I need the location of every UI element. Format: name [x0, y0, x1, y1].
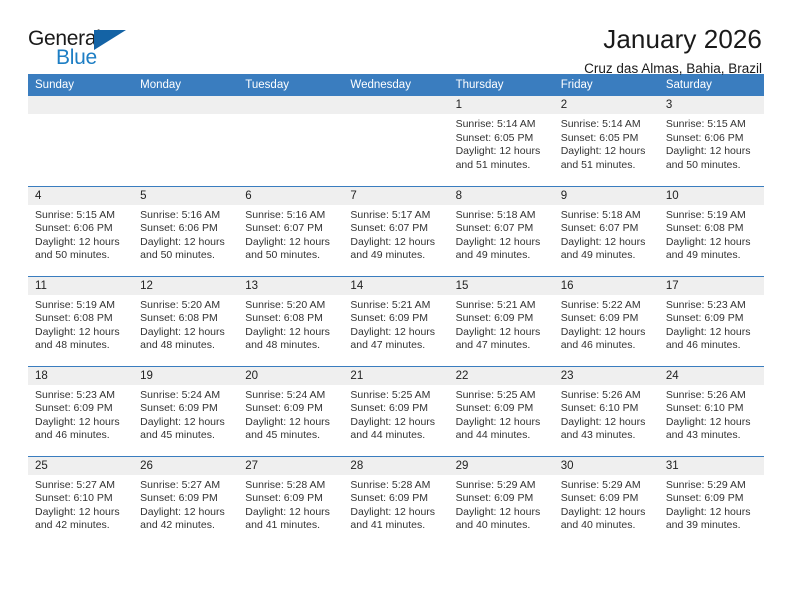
day-number: 23 — [554, 367, 659, 385]
day-number: 18 — [28, 367, 133, 385]
day-box: 26Sunrise: 5:27 AMSunset: 6:09 PMDayligh… — [133, 457, 238, 547]
day-box: 4Sunrise: 5:15 AMSunset: 6:06 PMDaylight… — [28, 187, 133, 276]
sunrise-text: Sunrise: 5:17 AM — [350, 209, 440, 223]
daylight-text-line1: Daylight: 12 hours — [140, 506, 230, 520]
calendar-day-cell[interactable]: 19Sunrise: 5:24 AMSunset: 6:09 PMDayligh… — [133, 366, 238, 456]
day-number: 22 — [449, 367, 554, 385]
sunrise-text: Sunrise: 5:27 AM — [140, 479, 230, 493]
daylight-text-line1: Daylight: 12 hours — [245, 236, 335, 250]
daylight-text-line2: and 49 minutes. — [666, 249, 756, 263]
calendar-page: General Blue January 2026 Cruz das Almas… — [0, 0, 792, 612]
sunset-text: Sunset: 6:07 PM — [245, 222, 335, 236]
daylight-text-line1: Daylight: 12 hours — [561, 236, 651, 250]
calendar-week-row: 1Sunrise: 5:14 AMSunset: 6:05 PMDaylight… — [28, 96, 764, 186]
daylight-text-line1: Daylight: 12 hours — [140, 416, 230, 430]
day-box: 25Sunrise: 5:27 AMSunset: 6:10 PMDayligh… — [28, 457, 133, 547]
day-number: 5 — [133, 187, 238, 205]
calendar-day-cell[interactable]: 31Sunrise: 5:29 AMSunset: 6:09 PMDayligh… — [659, 456, 764, 546]
logo-triangle-icon — [94, 30, 126, 50]
daylight-text-line1: Daylight: 12 hours — [456, 416, 546, 430]
sunset-text: Sunset: 6:09 PM — [245, 402, 335, 416]
day-sun-info: Sunrise: 5:25 AMSunset: 6:09 PMDaylight:… — [449, 385, 554, 443]
daylight-text-line1: Daylight: 12 hours — [350, 236, 440, 250]
day-sun-info: Sunrise: 5:25 AMSunset: 6:09 PMDaylight:… — [343, 385, 448, 443]
day-sun-info: Sunrise: 5:29 AMSunset: 6:09 PMDaylight:… — [659, 475, 764, 533]
day-box: 29Sunrise: 5:29 AMSunset: 6:09 PMDayligh… — [449, 457, 554, 547]
day-number: 26 — [133, 457, 238, 475]
calendar-day-cell[interactable]: 11Sunrise: 5:19 AMSunset: 6:08 PMDayligh… — [28, 276, 133, 366]
sunrise-text: Sunrise: 5:25 AM — [350, 389, 440, 403]
weekday-header-row: Sunday Monday Tuesday Wednesday Thursday… — [28, 74, 764, 96]
weekday-header-wednesday: Wednesday — [343, 74, 448, 96]
sunrise-text: Sunrise: 5:14 AM — [456, 118, 546, 132]
day-sun-info: Sunrise: 5:15 AMSunset: 6:06 PMDaylight:… — [28, 205, 133, 263]
sunset-text: Sunset: 6:09 PM — [666, 492, 756, 506]
day-sun-info: Sunrise: 5:19 AMSunset: 6:08 PMDaylight:… — [659, 205, 764, 263]
calendar-day-cell[interactable]: 5Sunrise: 5:16 AMSunset: 6:06 PMDaylight… — [133, 186, 238, 276]
daylight-text-line1: Daylight: 12 hours — [456, 236, 546, 250]
calendar-day-cell[interactable]: 17Sunrise: 5:23 AMSunset: 6:09 PMDayligh… — [659, 276, 764, 366]
daylight-text-line2: and 50 minutes. — [245, 249, 335, 263]
sunrise-text: Sunrise: 5:14 AM — [561, 118, 651, 132]
calendar-day-cell[interactable]: 9Sunrise: 5:18 AMSunset: 6:07 PMDaylight… — [554, 186, 659, 276]
calendar-day-cell-empty — [133, 96, 238, 186]
daylight-text-line1: Daylight: 12 hours — [35, 506, 125, 520]
sunrise-text: Sunrise: 5:25 AM — [456, 389, 546, 403]
day-number — [133, 96, 238, 114]
daylight-text-line1: Daylight: 12 hours — [666, 236, 756, 250]
sunrise-text: Sunrise: 5:29 AM — [456, 479, 546, 493]
day-box: 1Sunrise: 5:14 AMSunset: 6:05 PMDaylight… — [449, 96, 554, 186]
calendar-day-cell[interactable]: 3Sunrise: 5:15 AMSunset: 6:06 PMDaylight… — [659, 96, 764, 186]
day-box — [133, 96, 238, 186]
page-subtitle: Cruz das Almas, Bahia, Brazil — [584, 62, 762, 77]
calendar-body: 1Sunrise: 5:14 AMSunset: 6:05 PMDaylight… — [28, 96, 764, 546]
daylight-text-line1: Daylight: 12 hours — [245, 326, 335, 340]
sunset-text: Sunset: 6:06 PM — [35, 222, 125, 236]
day-number: 3 — [659, 96, 764, 114]
day-number: 20 — [238, 367, 343, 385]
daylight-text-line2: and 49 minutes. — [456, 249, 546, 263]
day-sun-info: Sunrise: 5:15 AMSunset: 6:06 PMDaylight:… — [659, 114, 764, 172]
sunset-text: Sunset: 6:09 PM — [350, 402, 440, 416]
sunrise-text: Sunrise: 5:15 AM — [666, 118, 756, 132]
day-sun-info: Sunrise: 5:14 AMSunset: 6:05 PMDaylight:… — [449, 114, 554, 172]
daylight-text-line2: and 42 minutes. — [140, 519, 230, 533]
day-sun-info: Sunrise: 5:18 AMSunset: 6:07 PMDaylight:… — [449, 205, 554, 263]
day-box: 9Sunrise: 5:18 AMSunset: 6:07 PMDaylight… — [554, 187, 659, 276]
sunset-text: Sunset: 6:07 PM — [350, 222, 440, 236]
page-title: January 2026 — [584, 26, 762, 53]
sunset-text: Sunset: 6:06 PM — [140, 222, 230, 236]
day-sun-info: Sunrise: 5:26 AMSunset: 6:10 PMDaylight:… — [554, 385, 659, 443]
day-box: 21Sunrise: 5:25 AMSunset: 6:09 PMDayligh… — [343, 367, 448, 456]
calendar-day-cell-empty — [238, 96, 343, 186]
day-number: 24 — [659, 367, 764, 385]
daylight-text-line2: and 50 minutes. — [35, 249, 125, 263]
calendar-day-cell[interactable]: 30Sunrise: 5:29 AMSunset: 6:09 PMDayligh… — [554, 456, 659, 546]
sunset-text: Sunset: 6:08 PM — [245, 312, 335, 326]
day-number: 2 — [554, 96, 659, 114]
daylight-text-line2: and 51 minutes. — [456, 159, 546, 173]
day-sun-info: Sunrise: 5:20 AMSunset: 6:08 PMDaylight:… — [238, 295, 343, 353]
day-box: 18Sunrise: 5:23 AMSunset: 6:09 PMDayligh… — [28, 367, 133, 456]
calendar-day-cell[interactable]: 26Sunrise: 5:27 AMSunset: 6:09 PMDayligh… — [133, 456, 238, 546]
day-number — [28, 96, 133, 114]
day-number: 11 — [28, 277, 133, 295]
sunrise-text: Sunrise: 5:23 AM — [35, 389, 125, 403]
sunset-text: Sunset: 6:08 PM — [35, 312, 125, 326]
calendar-day-cell[interactable]: 8Sunrise: 5:18 AMSunset: 6:07 PMDaylight… — [449, 186, 554, 276]
day-box: 24Sunrise: 5:26 AMSunset: 6:10 PMDayligh… — [659, 367, 764, 456]
day-box: 3Sunrise: 5:15 AMSunset: 6:06 PMDaylight… — [659, 96, 764, 186]
calendar-day-cell[interactable]: 12Sunrise: 5:20 AMSunset: 6:08 PMDayligh… — [133, 276, 238, 366]
sunset-text: Sunset: 6:09 PM — [350, 312, 440, 326]
sunset-text: Sunset: 6:08 PM — [140, 312, 230, 326]
calendar-week-row: 25Sunrise: 5:27 AMSunset: 6:10 PMDayligh… — [28, 456, 764, 546]
day-box: 5Sunrise: 5:16 AMSunset: 6:06 PMDaylight… — [133, 187, 238, 276]
calendar-day-cell[interactable]: 4Sunrise: 5:15 AMSunset: 6:06 PMDaylight… — [28, 186, 133, 276]
calendar-day-cell[interactable]: 16Sunrise: 5:22 AMSunset: 6:09 PMDayligh… — [554, 276, 659, 366]
day-number: 31 — [659, 457, 764, 475]
daylight-text-line1: Daylight: 12 hours — [350, 416, 440, 430]
daylight-text-line2: and 41 minutes. — [245, 519, 335, 533]
logo-text-blue: Blue — [56, 47, 97, 68]
daylight-text-line2: and 42 minutes. — [35, 519, 125, 533]
day-number: 9 — [554, 187, 659, 205]
daylight-text-line2: and 48 minutes. — [140, 339, 230, 353]
day-box: 15Sunrise: 5:21 AMSunset: 6:09 PMDayligh… — [449, 277, 554, 366]
sunrise-text: Sunrise: 5:24 AM — [245, 389, 335, 403]
day-number: 17 — [659, 277, 764, 295]
weekday-header-thursday: Thursday — [449, 74, 554, 96]
calendar-day-cell[interactable]: 22Sunrise: 5:25 AMSunset: 6:09 PMDayligh… — [449, 366, 554, 456]
calendar-day-cell[interactable]: 28Sunrise: 5:28 AMSunset: 6:09 PMDayligh… — [343, 456, 448, 546]
sunrise-text: Sunrise: 5:28 AM — [350, 479, 440, 493]
day-box: 16Sunrise: 5:22 AMSunset: 6:09 PMDayligh… — [554, 277, 659, 366]
day-sun-info: Sunrise: 5:18 AMSunset: 6:07 PMDaylight:… — [554, 205, 659, 263]
calendar-day-cell[interactable]: 10Sunrise: 5:19 AMSunset: 6:08 PMDayligh… — [659, 186, 764, 276]
day-box: 30Sunrise: 5:29 AMSunset: 6:09 PMDayligh… — [554, 457, 659, 547]
sunset-text: Sunset: 6:05 PM — [456, 132, 546, 146]
sunrise-text: Sunrise: 5:26 AM — [561, 389, 651, 403]
daylight-text-line2: and 40 minutes. — [561, 519, 651, 533]
daylight-text-line2: and 43 minutes. — [666, 429, 756, 443]
sunrise-text: Sunrise: 5:24 AM — [140, 389, 230, 403]
sunrise-sunset-calendar-table: Sunday Monday Tuesday Wednesday Thursday… — [28, 74, 764, 546]
sunrise-text: Sunrise: 5:15 AM — [35, 209, 125, 223]
day-number: 10 — [659, 187, 764, 205]
sunset-text: Sunset: 6:09 PM — [456, 312, 546, 326]
day-sun-info: Sunrise: 5:29 AMSunset: 6:09 PMDaylight:… — [449, 475, 554, 533]
daylight-text-line1: Daylight: 12 hours — [245, 506, 335, 520]
daylight-text-line1: Daylight: 12 hours — [456, 145, 546, 159]
daylight-text-line1: Daylight: 12 hours — [561, 506, 651, 520]
calendar-day-cell[interactable]: 21Sunrise: 5:25 AMSunset: 6:09 PMDayligh… — [343, 366, 448, 456]
day-sun-info: Sunrise: 5:14 AMSunset: 6:05 PMDaylight:… — [554, 114, 659, 172]
calendar-day-cell[interactable]: 27Sunrise: 5:28 AMSunset: 6:09 PMDayligh… — [238, 456, 343, 546]
day-box — [238, 96, 343, 186]
general-blue-logo[interactable]: General Blue — [28, 26, 138, 74]
day-box: 27Sunrise: 5:28 AMSunset: 6:09 PMDayligh… — [238, 457, 343, 547]
sunset-text: Sunset: 6:09 PM — [561, 312, 651, 326]
calendar-week-row: 18Sunrise: 5:23 AMSunset: 6:09 PMDayligh… — [28, 366, 764, 456]
day-sun-info: Sunrise: 5:17 AMSunset: 6:07 PMDaylight:… — [343, 205, 448, 263]
day-number: 4 — [28, 187, 133, 205]
daylight-text-line2: and 45 minutes. — [245, 429, 335, 443]
sunrise-text: Sunrise: 5:18 AM — [561, 209, 651, 223]
sunrise-text: Sunrise: 5:29 AM — [666, 479, 756, 493]
day-number: 13 — [238, 277, 343, 295]
day-sun-info: Sunrise: 5:24 AMSunset: 6:09 PMDaylight:… — [238, 385, 343, 443]
sunset-text: Sunset: 6:05 PM — [561, 132, 651, 146]
calendar-day-cell[interactable]: 1Sunrise: 5:14 AMSunset: 6:05 PMDaylight… — [449, 96, 554, 186]
day-sun-info: Sunrise: 5:23 AMSunset: 6:09 PMDaylight:… — [28, 385, 133, 443]
calendar-day-cell-empty — [28, 96, 133, 186]
sunrise-text: Sunrise: 5:22 AM — [561, 299, 651, 313]
sunrise-text: Sunrise: 5:16 AM — [245, 209, 335, 223]
day-box: 7Sunrise: 5:17 AMSunset: 6:07 PMDaylight… — [343, 187, 448, 276]
daylight-text-line1: Daylight: 12 hours — [245, 416, 335, 430]
sunrise-text: Sunrise: 5:23 AM — [666, 299, 756, 313]
day-box: 11Sunrise: 5:19 AMSunset: 6:08 PMDayligh… — [28, 277, 133, 366]
day-sun-info: Sunrise: 5:29 AMSunset: 6:09 PMDaylight:… — [554, 475, 659, 533]
calendar-week-row: 4Sunrise: 5:15 AMSunset: 6:06 PMDaylight… — [28, 186, 764, 276]
daylight-text-line1: Daylight: 12 hours — [666, 326, 756, 340]
day-box: 6Sunrise: 5:16 AMSunset: 6:07 PMDaylight… — [238, 187, 343, 276]
sunset-text: Sunset: 6:09 PM — [140, 492, 230, 506]
day-box: 31Sunrise: 5:29 AMSunset: 6:09 PMDayligh… — [659, 457, 764, 547]
day-box: 2Sunrise: 5:14 AMSunset: 6:05 PMDaylight… — [554, 96, 659, 186]
daylight-text-line1: Daylight: 12 hours — [350, 326, 440, 340]
day-number: 25 — [28, 457, 133, 475]
calendar-day-cell[interactable]: 25Sunrise: 5:27 AMSunset: 6:10 PMDayligh… — [28, 456, 133, 546]
daylight-text-line2: and 46 minutes. — [666, 339, 756, 353]
day-box — [28, 96, 133, 186]
day-box: 19Sunrise: 5:24 AMSunset: 6:09 PMDayligh… — [133, 367, 238, 456]
day-number: 21 — [343, 367, 448, 385]
sunset-text: Sunset: 6:09 PM — [456, 402, 546, 416]
daylight-text-line2: and 50 minutes. — [666, 159, 756, 173]
daylight-text-line2: and 50 minutes. — [140, 249, 230, 263]
sunset-text: Sunset: 6:09 PM — [35, 402, 125, 416]
daylight-text-line1: Daylight: 12 hours — [666, 506, 756, 520]
daylight-text-line2: and 44 minutes. — [350, 429, 440, 443]
daylight-text-line2: and 49 minutes. — [350, 249, 440, 263]
weekday-header-tuesday: Tuesday — [238, 74, 343, 96]
day-sun-info: Sunrise: 5:16 AMSunset: 6:06 PMDaylight:… — [133, 205, 238, 263]
daylight-text-line2: and 45 minutes. — [140, 429, 230, 443]
daylight-text-line2: and 46 minutes. — [35, 429, 125, 443]
calendar-day-cell-empty — [343, 96, 448, 186]
calendar-day-cell[interactable]: 13Sunrise: 5:20 AMSunset: 6:08 PMDayligh… — [238, 276, 343, 366]
day-number — [343, 96, 448, 114]
calendar-day-cell[interactable]: 20Sunrise: 5:24 AMSunset: 6:09 PMDayligh… — [238, 366, 343, 456]
sunset-text: Sunset: 6:09 PM — [245, 492, 335, 506]
sunrise-text: Sunrise: 5:20 AM — [140, 299, 230, 313]
day-sun-info: Sunrise: 5:21 AMSunset: 6:09 PMDaylight:… — [343, 295, 448, 353]
day-number: 7 — [343, 187, 448, 205]
calendar-day-cell[interactable]: 18Sunrise: 5:23 AMSunset: 6:09 PMDayligh… — [28, 366, 133, 456]
sunrise-text: Sunrise: 5:28 AM — [245, 479, 335, 493]
daylight-text-line1: Daylight: 12 hours — [140, 326, 230, 340]
sunrise-text: Sunrise: 5:18 AM — [456, 209, 546, 223]
day-sun-info: Sunrise: 5:19 AMSunset: 6:08 PMDaylight:… — [28, 295, 133, 353]
daylight-text-line1: Daylight: 12 hours — [561, 416, 651, 430]
day-sun-info: Sunrise: 5:20 AMSunset: 6:08 PMDaylight:… — [133, 295, 238, 353]
day-sun-info: Sunrise: 5:23 AMSunset: 6:09 PMDaylight:… — [659, 295, 764, 353]
day-number: 27 — [238, 457, 343, 475]
day-number: 28 — [343, 457, 448, 475]
day-sun-info: Sunrise: 5:16 AMSunset: 6:07 PMDaylight:… — [238, 205, 343, 263]
daylight-text-line2: and 39 minutes. — [666, 519, 756, 533]
sunset-text: Sunset: 6:08 PM — [666, 222, 756, 236]
calendar-header-row: Sunday Monday Tuesday Wednesday Thursday… — [28, 74, 764, 96]
day-number: 8 — [449, 187, 554, 205]
daylight-text-line1: Daylight: 12 hours — [561, 145, 651, 159]
weekday-header-friday: Friday — [554, 74, 659, 96]
daylight-text-line2: and 44 minutes. — [456, 429, 546, 443]
day-sun-info: Sunrise: 5:24 AMSunset: 6:09 PMDaylight:… — [133, 385, 238, 443]
day-sun-info: Sunrise: 5:27 AMSunset: 6:09 PMDaylight:… — [133, 475, 238, 533]
daylight-text-line1: Daylight: 12 hours — [35, 326, 125, 340]
daylight-text-line1: Daylight: 12 hours — [561, 326, 651, 340]
day-sun-info: Sunrise: 5:21 AMSunset: 6:09 PMDaylight:… — [449, 295, 554, 353]
day-box: 13Sunrise: 5:20 AMSunset: 6:08 PMDayligh… — [238, 277, 343, 366]
weekday-header-saturday: Saturday — [659, 74, 764, 96]
sunrise-text: Sunrise: 5:19 AM — [35, 299, 125, 313]
daylight-text-line1: Daylight: 12 hours — [350, 506, 440, 520]
calendar-week-row: 11Sunrise: 5:19 AMSunset: 6:08 PMDayligh… — [28, 276, 764, 366]
day-box: 23Sunrise: 5:26 AMSunset: 6:10 PMDayligh… — [554, 367, 659, 456]
sunset-text: Sunset: 6:09 PM — [140, 402, 230, 416]
sunrise-text: Sunrise: 5:16 AM — [140, 209, 230, 223]
sunset-text: Sunset: 6:10 PM — [35, 492, 125, 506]
day-number: 15 — [449, 277, 554, 295]
sunset-text: Sunset: 6:07 PM — [561, 222, 651, 236]
sunrise-text: Sunrise: 5:26 AM — [666, 389, 756, 403]
page-header: General Blue January 2026 Cruz das Almas… — [28, 0, 764, 74]
daylight-text-line2: and 49 minutes. — [561, 249, 651, 263]
daylight-text-line1: Daylight: 12 hours — [456, 326, 546, 340]
day-box: 17Sunrise: 5:23 AMSunset: 6:09 PMDayligh… — [659, 277, 764, 366]
daylight-text-line2: and 47 minutes. — [456, 339, 546, 353]
sunset-text: Sunset: 6:09 PM — [561, 492, 651, 506]
weekday-header-monday: Monday — [133, 74, 238, 96]
calendar-day-cell[interactable]: 2Sunrise: 5:14 AMSunset: 6:05 PMDaylight… — [554, 96, 659, 186]
daylight-text-line1: Daylight: 12 hours — [35, 236, 125, 250]
daylight-text-line2: and 43 minutes. — [561, 429, 651, 443]
daylight-text-line1: Daylight: 12 hours — [140, 236, 230, 250]
sunset-text: Sunset: 6:09 PM — [456, 492, 546, 506]
day-box: 12Sunrise: 5:20 AMSunset: 6:08 PMDayligh… — [133, 277, 238, 366]
daylight-text-line1: Daylight: 12 hours — [35, 416, 125, 430]
calendar-day-cell[interactable]: 14Sunrise: 5:21 AMSunset: 6:09 PMDayligh… — [343, 276, 448, 366]
sunset-text: Sunset: 6:09 PM — [350, 492, 440, 506]
sunrise-text: Sunrise: 5:19 AM — [666, 209, 756, 223]
sunset-text: Sunset: 6:10 PM — [666, 402, 756, 416]
sunrise-text: Sunrise: 5:29 AM — [561, 479, 651, 493]
sunset-text: Sunset: 6:09 PM — [666, 312, 756, 326]
sunrise-text: Sunrise: 5:20 AM — [245, 299, 335, 313]
day-box — [343, 96, 448, 186]
sunrise-text: Sunrise: 5:27 AM — [35, 479, 125, 493]
daylight-text-line2: and 48 minutes. — [245, 339, 335, 353]
day-number: 16 — [554, 277, 659, 295]
day-box: 22Sunrise: 5:25 AMSunset: 6:09 PMDayligh… — [449, 367, 554, 456]
sunrise-text: Sunrise: 5:21 AM — [350, 299, 440, 313]
daylight-text-line2: and 48 minutes. — [35, 339, 125, 353]
daylight-text-line1: Daylight: 12 hours — [666, 145, 756, 159]
day-box: 8Sunrise: 5:18 AMSunset: 6:07 PMDaylight… — [449, 187, 554, 276]
day-sun-info: Sunrise: 5:28 AMSunset: 6:09 PMDaylight:… — [343, 475, 448, 533]
daylight-text-line2: and 51 minutes. — [561, 159, 651, 173]
weekday-header-sunday: Sunday — [28, 74, 133, 96]
sunrise-text: Sunrise: 5:21 AM — [456, 299, 546, 313]
calendar-day-cell[interactable]: 6Sunrise: 5:16 AMSunset: 6:07 PMDaylight… — [238, 186, 343, 276]
day-number: 1 — [449, 96, 554, 114]
title-block: January 2026 Cruz das Almas, Bahia, Braz… — [584, 26, 764, 77]
day-box: 10Sunrise: 5:19 AMSunset: 6:08 PMDayligh… — [659, 187, 764, 276]
calendar-day-cell[interactable]: 29Sunrise: 5:29 AMSunset: 6:09 PMDayligh… — [449, 456, 554, 546]
sunset-text: Sunset: 6:10 PM — [561, 402, 651, 416]
day-number: 19 — [133, 367, 238, 385]
calendar-day-cell[interactable]: 15Sunrise: 5:21 AMSunset: 6:09 PMDayligh… — [449, 276, 554, 366]
day-sun-info: Sunrise: 5:26 AMSunset: 6:10 PMDaylight:… — [659, 385, 764, 443]
day-box: 14Sunrise: 5:21 AMSunset: 6:09 PMDayligh… — [343, 277, 448, 366]
day-sun-info: Sunrise: 5:27 AMSunset: 6:10 PMDaylight:… — [28, 475, 133, 533]
calendar-day-cell[interactable]: 24Sunrise: 5:26 AMSunset: 6:10 PMDayligh… — [659, 366, 764, 456]
calendar-day-cell[interactable]: 7Sunrise: 5:17 AMSunset: 6:07 PMDaylight… — [343, 186, 448, 276]
daylight-text-line2: and 47 minutes. — [350, 339, 440, 353]
day-box: 20Sunrise: 5:24 AMSunset: 6:09 PMDayligh… — [238, 367, 343, 456]
day-number: 29 — [449, 457, 554, 475]
daylight-text-line1: Daylight: 12 hours — [456, 506, 546, 520]
day-sun-info: Sunrise: 5:22 AMSunset: 6:09 PMDaylight:… — [554, 295, 659, 353]
day-number: 14 — [343, 277, 448, 295]
day-box: 28Sunrise: 5:28 AMSunset: 6:09 PMDayligh… — [343, 457, 448, 547]
daylight-text-line2: and 46 minutes. — [561, 339, 651, 353]
daylight-text-line1: Daylight: 12 hours — [666, 416, 756, 430]
daylight-text-line2: and 40 minutes. — [456, 519, 546, 533]
calendar-day-cell[interactable]: 23Sunrise: 5:26 AMSunset: 6:10 PMDayligh… — [554, 366, 659, 456]
sunset-text: Sunset: 6:06 PM — [666, 132, 756, 146]
daylight-text-line2: and 41 minutes. — [350, 519, 440, 533]
day-number — [238, 96, 343, 114]
day-number: 12 — [133, 277, 238, 295]
day-number: 6 — [238, 187, 343, 205]
sunset-text: Sunset: 6:07 PM — [456, 222, 546, 236]
day-sun-info: Sunrise: 5:28 AMSunset: 6:09 PMDaylight:… — [238, 475, 343, 533]
day-number: 30 — [554, 457, 659, 475]
